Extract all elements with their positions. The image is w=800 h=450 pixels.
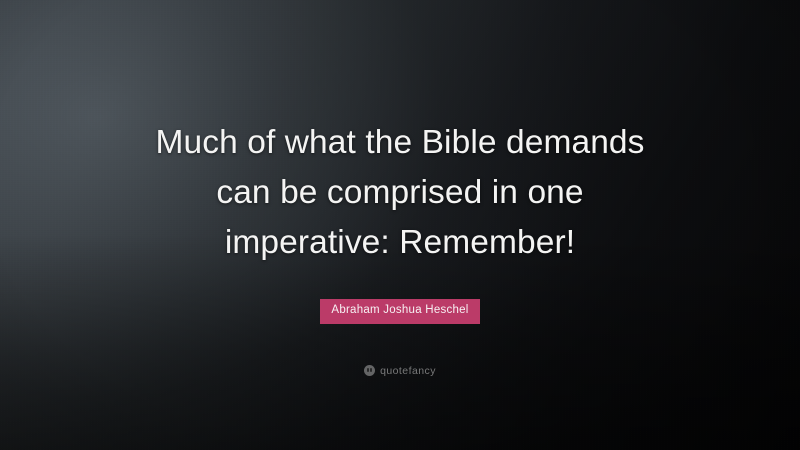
quote-poster: Much of what the Bible demands can be co… bbox=[0, 0, 800, 450]
quotefancy-circle-logo-icon bbox=[364, 365, 375, 376]
watermark[interactable]: quotefancy bbox=[364, 365, 436, 377]
quote-text: Much of what the Bible demands can be co… bbox=[150, 118, 650, 268]
poster-content: Much of what the Bible demands can be co… bbox=[0, 0, 800, 450]
watermark-brand-label: quotefancy bbox=[380, 365, 436, 377]
author-badge[interactable]: Abraham Joshua Heschel bbox=[320, 299, 479, 324]
